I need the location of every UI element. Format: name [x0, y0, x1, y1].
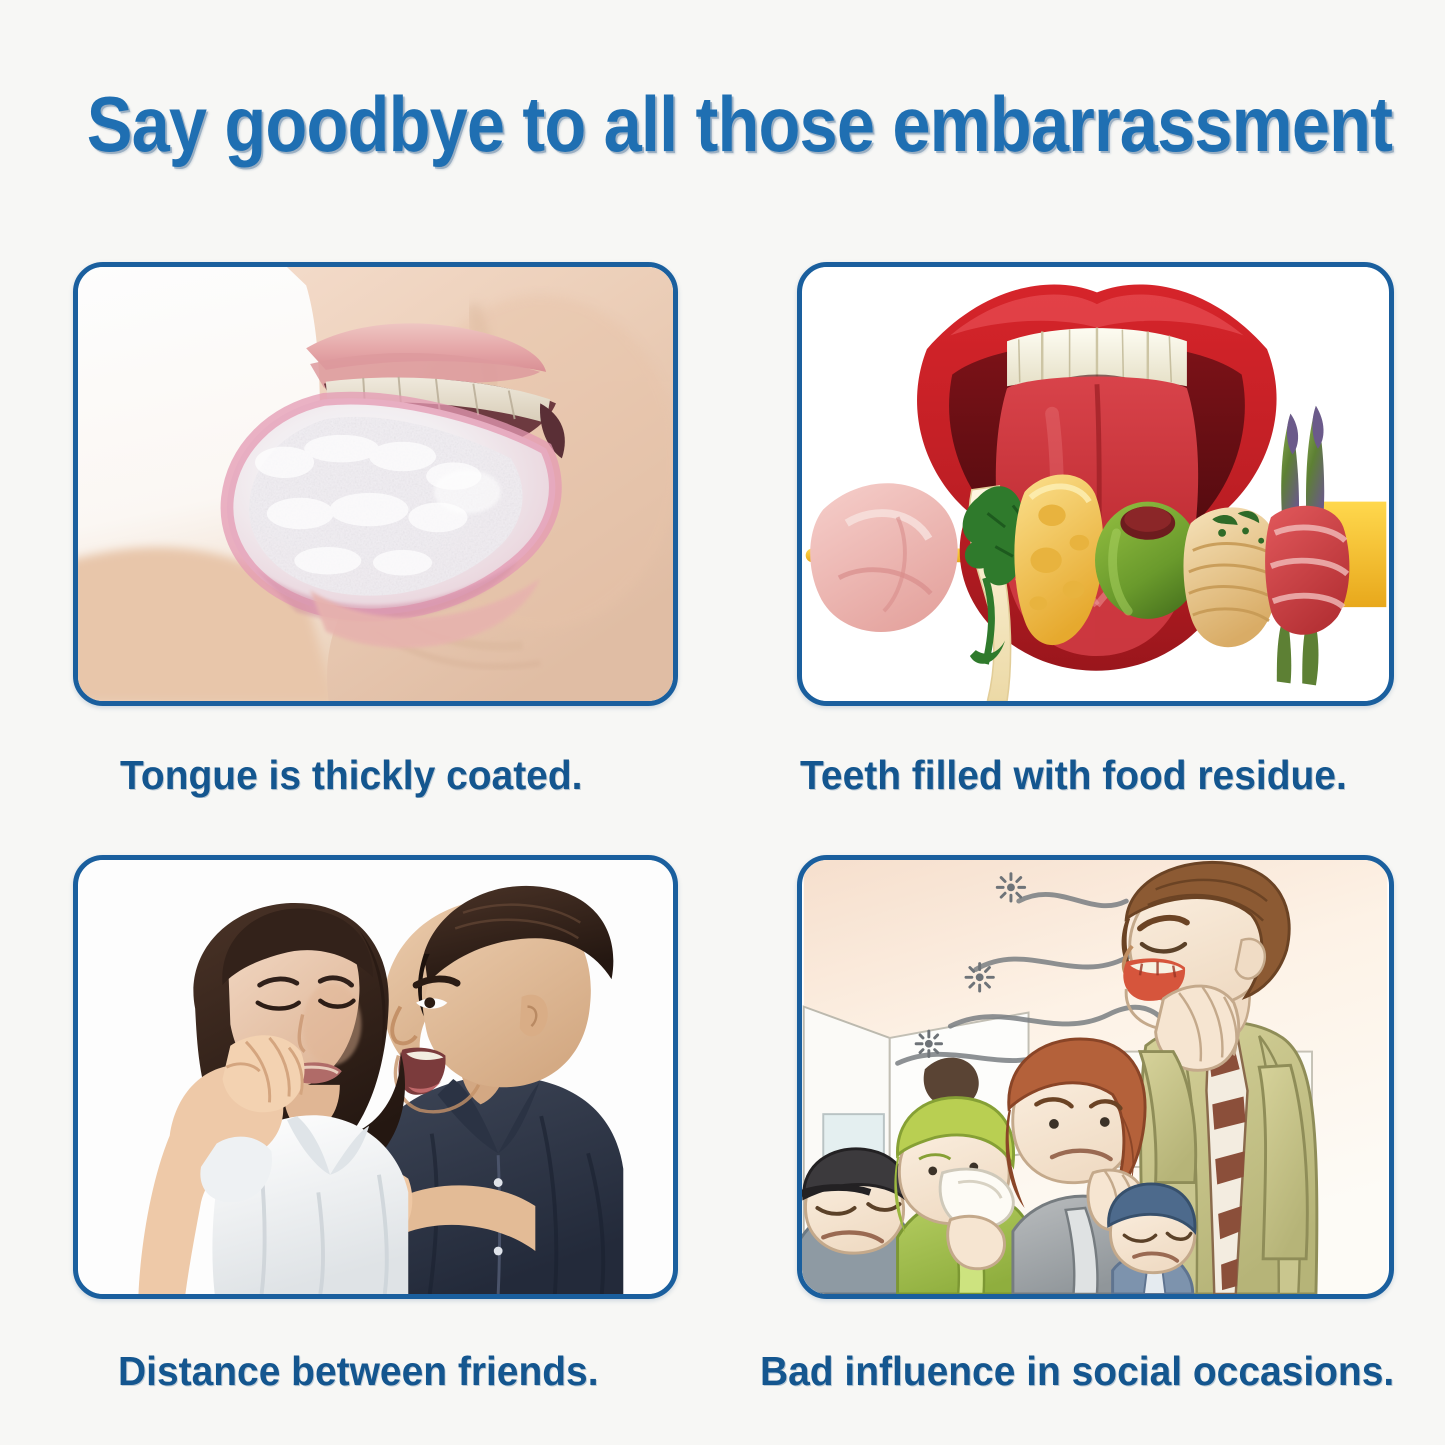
mouth-food-residue-illustration: [802, 267, 1389, 701]
promo-page: Say goodbye to all those embarrassment: [0, 0, 1445, 1445]
tongue-photo-illustration: [78, 267, 673, 701]
couple-distance-photo: [78, 860, 673, 1294]
caption-tongue: Tongue is thickly coated.: [120, 752, 582, 799]
panel-social-occasions: [797, 855, 1394, 1299]
page-title: Say goodbye to all those embarrassment: [87, 84, 1359, 166]
caption-food-residue: Teeth filled with food residue.: [800, 752, 1347, 799]
coworker-short-man: [1109, 1184, 1195, 1294]
office-bad-breath-cartoon: [802, 860, 1389, 1294]
caption-friends-distance: Distance between friends.: [118, 1348, 599, 1395]
panel-food-residue: [797, 262, 1394, 706]
panel-friends-distance: [73, 855, 678, 1299]
panel-tongue: [73, 262, 678, 706]
caption-social-occasions: Bad influence in social occasions.: [760, 1348, 1394, 1395]
woman-hand-pinching-nose: [223, 1035, 305, 1112]
